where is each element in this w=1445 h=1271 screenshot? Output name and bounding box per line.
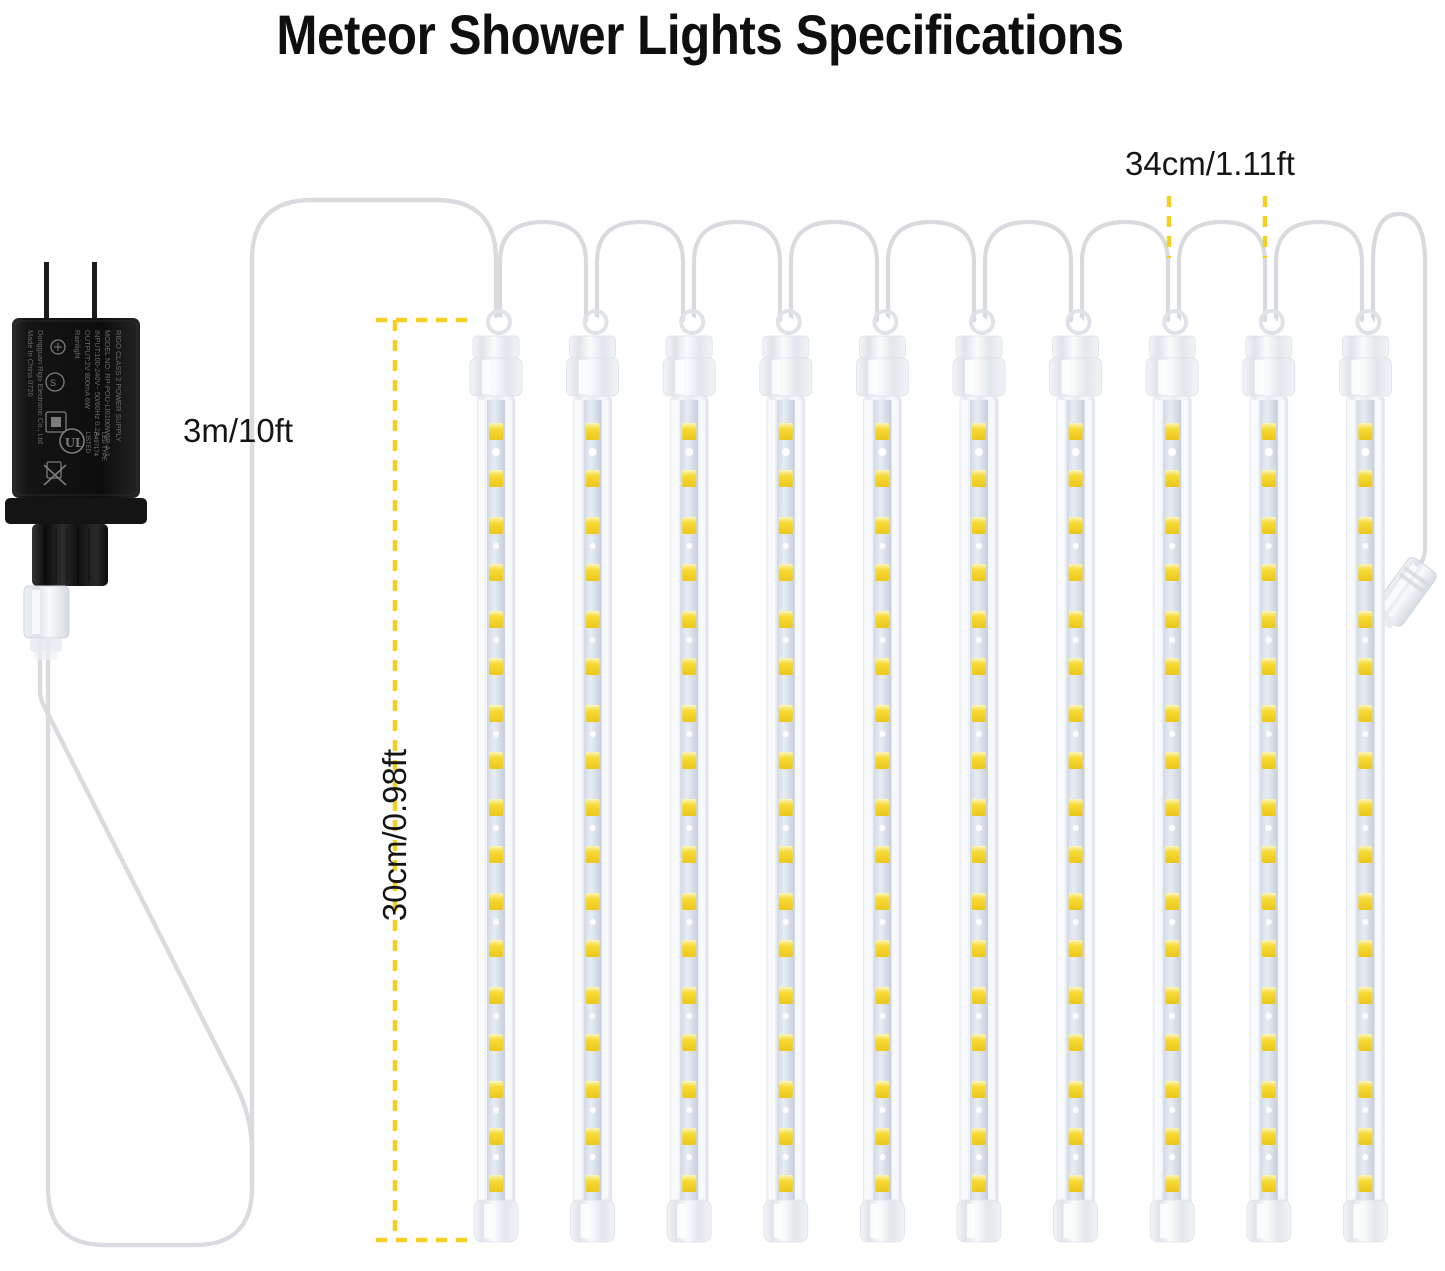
tube-length-dimension-label: 30cm/0.98ft (376, 749, 414, 921)
product-spec-image: Meteor Shower Lights Specifications (0, 0, 1445, 1271)
adapter-male-connector (24, 586, 69, 660)
adapter-prong-right (92, 262, 97, 320)
svg-text:UL: UL (65, 436, 84, 451)
svg-text:Made In China 0720: Made In China 0720 (26, 330, 35, 397)
svg-text:Dongguan Rigo Electronic Co.,: Dongguan Rigo Electronic Co., Ltd (36, 330, 45, 444)
svg-text:E497174: E497174 (92, 432, 98, 457)
adapter-shoulder (5, 498, 147, 524)
product-illustration: RIGO CLASS 2 POWER SUPPLY MODEL NO: RP-P… (0, 0, 1445, 1271)
led-tube (953, 311, 1005, 1242)
led-tube (1339, 311, 1391, 1242)
adapter-prong-left (44, 262, 49, 320)
led-tube-group (470, 311, 1391, 1242)
lead-cable-dimension-label: 3m/10ft (183, 412, 293, 450)
svg-text:OUTPUT:2V 800mA 6W: OUTPUT:2V 800mA 6W (83, 330, 92, 409)
connector-wires (500, 222, 1362, 320)
svg-text:S: S (50, 378, 56, 388)
power-adapter: RIGO CLASS 2 POWER SUPPLY MODEL NO: RP-P… (5, 262, 147, 660)
svg-text:INPUT:100-240V~ 50/60Hz 0.2A: INPUT:100-240V~ 50/60Hz 0.2A (93, 330, 102, 437)
led-tube (567, 311, 619, 1242)
adapter-collar (32, 524, 108, 586)
led-tube (760, 311, 812, 1242)
led-tube (663, 311, 715, 1242)
svg-text:LED TYPE: LED TYPE (100, 432, 106, 461)
svg-text:LISTED: LISTED (84, 432, 90, 454)
led-tube (856, 311, 908, 1242)
tube-spacing-dimension-label: 34cm/1.11ft (1125, 145, 1295, 183)
led-tube (1146, 311, 1198, 1242)
led-tube (1243, 311, 1295, 1242)
svg-text:Rainlight: Rainlight (73, 330, 82, 359)
led-tube (470, 311, 522, 1242)
led-tube (1050, 311, 1102, 1242)
svg-text:RIGO CLASS 2 POWER SUPPLY: RIGO CLASS 2 POWER SUPPLY (114, 330, 123, 442)
